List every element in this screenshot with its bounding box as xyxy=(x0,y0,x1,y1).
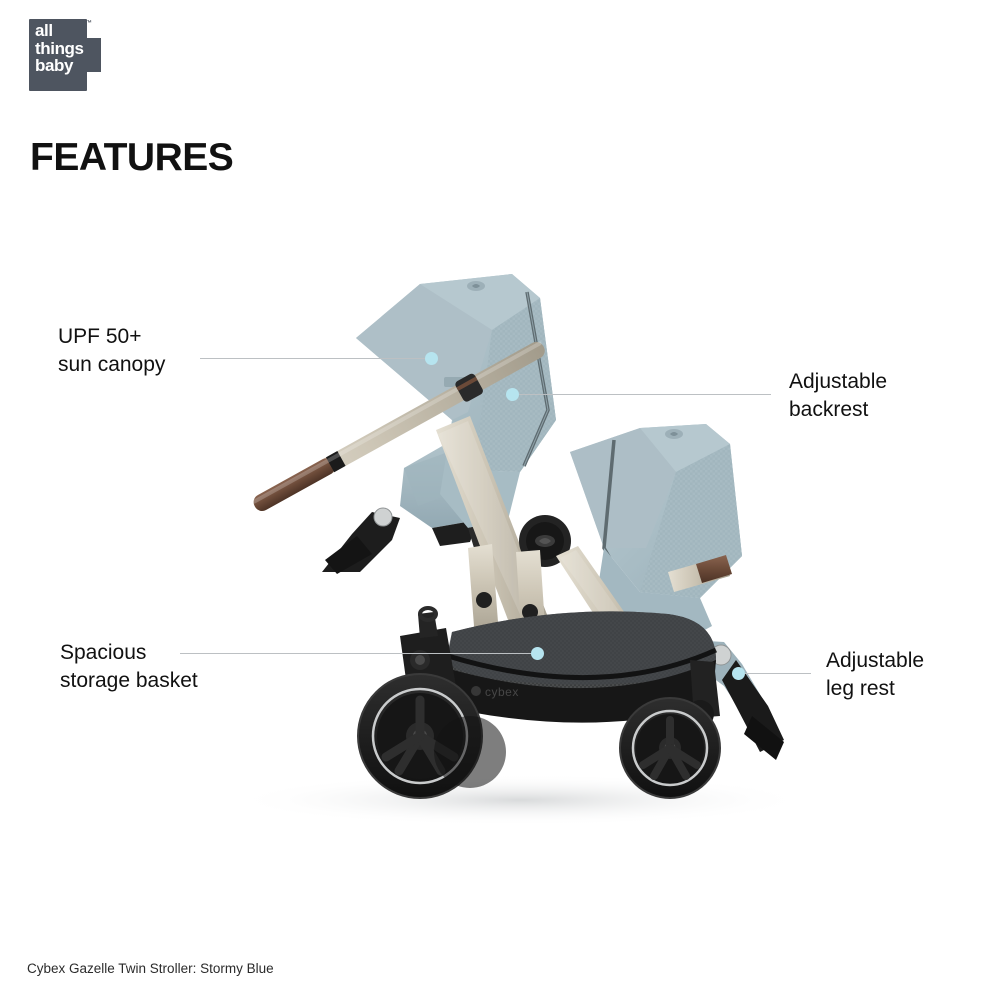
marker-dot-leg-rest xyxy=(732,667,745,680)
callout-storage-basket: Spacious storage basket xyxy=(60,639,198,695)
product-image-stroller: cybex xyxy=(0,0,1000,1000)
marker-dot-storage-basket xyxy=(531,647,544,660)
leader-line-sun-canopy xyxy=(200,358,428,359)
callout-sun-canopy: UPF 50+ sun canopy xyxy=(58,323,165,379)
product-caption: Cybex Gazelle Twin Stroller: Stormy Blue xyxy=(27,960,274,978)
leader-line-storage-basket xyxy=(180,653,536,654)
leader-line-backrest xyxy=(519,394,771,395)
callout-adjustable-leg-rest: Adjustable leg rest xyxy=(826,647,924,703)
callout-basket-line2: storage basket xyxy=(60,667,198,695)
basket-brand-text: cybex xyxy=(485,685,519,699)
logo-line-1: all xyxy=(35,22,105,40)
callout-legrest-line2: leg rest xyxy=(826,675,924,703)
marker-dot-sun-canopy xyxy=(425,352,438,365)
callout-legrest-line1: Adjustable xyxy=(826,647,924,675)
features-infographic: ™ all things baby FEATURES xyxy=(0,0,1000,1000)
callout-sun-canopy-line1: UPF 50+ xyxy=(58,323,165,351)
callout-basket-line1: Spacious xyxy=(60,639,198,667)
logo-line-2: things xyxy=(35,40,105,58)
callout-backrest-line1: Adjustable xyxy=(789,368,887,396)
callout-adjustable-backrest: Adjustable backrest xyxy=(789,368,887,424)
callout-sun-canopy-line2: sun canopy xyxy=(58,351,165,379)
logo-wordmark: all things baby xyxy=(35,22,105,75)
callout-backrest-line2: backrest xyxy=(789,396,887,424)
trademark-symbol: ™ xyxy=(85,20,92,28)
logo-line-3: baby xyxy=(35,57,105,75)
leader-line-leg-rest xyxy=(745,673,811,674)
marker-dot-backrest xyxy=(506,388,519,401)
